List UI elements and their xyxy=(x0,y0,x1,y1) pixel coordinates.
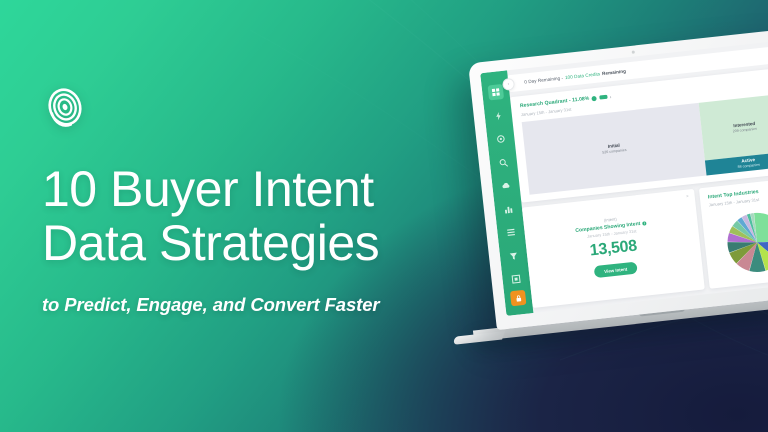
badge-pill-icon xyxy=(599,94,607,99)
promo-banner: 10 Buyer Intent Data Strategies to Predi… xyxy=(0,0,768,432)
spiral-logo-icon xyxy=(42,84,88,130)
title-line-2: Data Strategies xyxy=(42,216,472,270)
info-icon[interactable]: i xyxy=(642,221,647,226)
avatar[interactable]: › xyxy=(502,77,515,90)
app-content: › 0 Day Remaining - 100 Data Credits Rem… xyxy=(507,40,768,313)
laptop-foot xyxy=(452,331,505,345)
credits-suffix-text: Remaining xyxy=(602,69,626,77)
intent-kicker: (Intent) xyxy=(604,217,617,223)
dashboard-icon xyxy=(491,87,501,97)
sidebar-item-targets[interactable] xyxy=(493,131,510,148)
title-line-1: 10 Buyer Intent xyxy=(42,161,374,217)
quadrant-segment-interested[interactable]: Interested 209 companies xyxy=(699,93,768,160)
close-icon[interactable]: × xyxy=(686,193,689,198)
lock-icon xyxy=(514,294,523,303)
intent-metric-value: 13,508 xyxy=(589,238,638,261)
hero-copy: 10 Buyer Intent Data Strategies to Predi… xyxy=(42,84,472,316)
quadrant-right-column: Interested 209 companies Active 88 compa… xyxy=(699,93,768,175)
filter-icon xyxy=(509,251,519,261)
page-title: 10 Buyer Intent Data Strategies xyxy=(42,162,472,270)
companies-showing-intent-card: × (Intent) Companies Showing Intent i Ja… xyxy=(522,188,705,308)
webcam-dot xyxy=(631,51,634,54)
page-subtitle: to Predict, Engage, and Convert Faster xyxy=(42,294,472,316)
sidebar-item-dashboard[interactable] xyxy=(488,84,505,101)
chart-icon xyxy=(504,204,514,214)
quadrant-segment-initial[interactable]: Initial 526 companies xyxy=(522,102,707,194)
sidebar-item-analytics[interactable] xyxy=(500,201,517,218)
intent-top-industries-card: Intent Top Industries January 15th - Jan… xyxy=(699,177,768,289)
laptop-mockup: › 0 Day Remaining - 100 Data Credits Rem… xyxy=(468,28,768,330)
spiral-logo xyxy=(42,84,88,130)
data-credits-link[interactable]: 100 Data Credits xyxy=(565,71,601,80)
laptop-lid: › 0 Day Remaining - 100 Data Credits Rem… xyxy=(468,28,768,330)
quadrant-count-initial: 526 companies xyxy=(602,148,627,155)
view-intent-button[interactable]: View Intent xyxy=(594,262,638,279)
list-icon xyxy=(506,227,516,237)
days-remaining-text: 0 Day Remaining - xyxy=(524,75,563,84)
search-icon xyxy=(498,157,508,167)
sidebar-item-filters[interactable] xyxy=(505,248,522,265)
sidebar-item-cloud[interactable] xyxy=(498,177,515,194)
cloud-icon xyxy=(501,181,511,191)
sidebar-item-search[interactable] xyxy=(495,154,512,171)
industries-pie-chart[interactable] xyxy=(720,205,768,280)
grid-icon xyxy=(511,274,521,284)
app-screen: › 0 Day Remaining - 100 Data Credits Rem… xyxy=(480,40,768,316)
sidebar-item-apps[interactable] xyxy=(508,271,525,288)
sidebar-item-signals[interactable] xyxy=(490,107,507,124)
chevron-right-icon[interactable]: › xyxy=(609,94,611,99)
industries-pie-wrap xyxy=(710,204,768,281)
sidebar-item-locked[interactable] xyxy=(510,290,527,307)
bolt-icon xyxy=(493,111,503,121)
status-dot-icon xyxy=(592,95,598,101)
target-icon xyxy=(496,134,506,144)
sidebar-item-lists[interactable] xyxy=(503,224,520,241)
quadrant-count-active: 88 companies xyxy=(737,163,760,169)
